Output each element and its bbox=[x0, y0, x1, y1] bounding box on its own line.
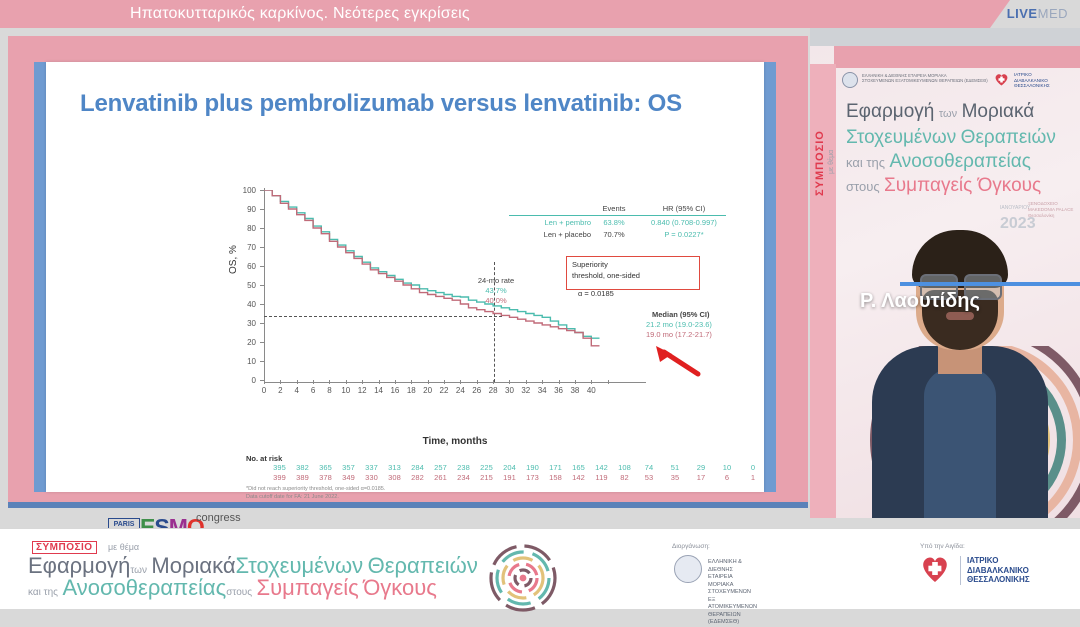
risk-value: 165 bbox=[567, 463, 590, 472]
risk-value: 330 bbox=[360, 473, 383, 482]
y-tick-label: 20 bbox=[232, 338, 256, 347]
speaker-figure bbox=[872, 216, 1048, 518]
livemed-live-text: LIVE bbox=[1007, 6, 1038, 21]
backdrop-title-line2: Στοχευμένων Θεραπειών bbox=[846, 126, 1078, 150]
24-month-rate-annotation: 24-mo rate 43.7% 40.0% bbox=[454, 276, 538, 306]
rate24-pembro: 43.7% bbox=[454, 286, 538, 296]
risk-value: 171 bbox=[544, 463, 567, 472]
backdrop-t3a: και της bbox=[846, 155, 885, 170]
edemseth-line2: ΣΤΟΧΕΥΜΕΝΩΝ ΕΞΑΤΟΜΙΚΕΥΜΕΝΩΝ ΘΕΡΑΠΕΙΩΝ (Ε… bbox=[862, 78, 988, 83]
footer-heart-cross-icon bbox=[920, 555, 950, 583]
stats-divider bbox=[509, 215, 726, 216]
x-tick bbox=[444, 380, 445, 384]
backdrop-title: Εφαρμογή των Μοριακά Στοχευμένων Θεραπει… bbox=[846, 100, 1078, 198]
backdrop-title-line1: Εφαρμογή των Μοριακά bbox=[846, 100, 1078, 126]
superiority-threshold-text: Superiority threshold, one-sided bbox=[572, 259, 702, 281]
superiority-line2: threshold, one-sided bbox=[572, 270, 702, 281]
risk-value: 365 bbox=[314, 463, 337, 472]
risk-row-placebo: 3993893783493303082822612342151911731581… bbox=[268, 473, 766, 482]
risk-value: 142 bbox=[567, 473, 590, 482]
risk-value: 389 bbox=[291, 473, 314, 482]
stats-label-pembro: Len + pembro bbox=[501, 218, 591, 227]
risk-value: 190 bbox=[521, 463, 544, 472]
footer-organizer-text: ΕΛΛΗΝΙΚΗ & ΔΙΕΘΝΗΣ ΕΤΑΙΡΕΙΑ ΜΟΡΙΑΚΑ ΣΤΟΧ… bbox=[708, 559, 757, 627]
x-tick bbox=[362, 380, 363, 384]
video-top-pink-band bbox=[834, 46, 1080, 68]
y-tick-label: 80 bbox=[232, 224, 256, 233]
x-axis-line bbox=[264, 382, 646, 383]
median-header: Median (95% CI) bbox=[646, 310, 761, 320]
risk-value: 53 bbox=[636, 473, 662, 482]
slide-accent-right bbox=[764, 62, 776, 492]
rate24-placebo: 40.0% bbox=[454, 296, 538, 306]
risk-value: 399 bbox=[268, 473, 291, 482]
x-tick bbox=[608, 380, 609, 384]
stats-pvalue: P = 0.0227* bbox=[641, 230, 727, 239]
x-tick bbox=[329, 380, 330, 384]
risk-value: 17 bbox=[688, 473, 714, 482]
risk-value: 238 bbox=[452, 463, 475, 472]
risk-value: 337 bbox=[360, 463, 383, 472]
x-tick bbox=[542, 380, 543, 384]
speaker-name-overlay: Ρ. Λαουτίδης bbox=[860, 290, 980, 313]
footnote-line-2: Data cutoff date for FA: 21 June 2022. bbox=[246, 494, 385, 502]
x-tick bbox=[526, 380, 527, 384]
risk-value: 119 bbox=[590, 473, 613, 482]
risk-value: 142 bbox=[590, 463, 613, 472]
speaker-shirt bbox=[924, 368, 996, 518]
stats-col-events: Events bbox=[594, 204, 634, 213]
risk-value: 191 bbox=[498, 473, 521, 482]
risk-value: 382 bbox=[291, 463, 314, 472]
risk-value: 10 bbox=[714, 463, 740, 472]
stats-col-hr: HR (95% CI) bbox=[641, 204, 727, 213]
slide-container[interactable]: Lenvatinib plus pembrolizumab versus len… bbox=[8, 36, 808, 506]
superiority-line1: Superiority bbox=[572, 259, 702, 270]
risk-value: 378 bbox=[314, 473, 337, 482]
stats-label-placebo: Len + placebo bbox=[501, 230, 591, 239]
x-tick bbox=[280, 380, 281, 384]
x-tick bbox=[591, 380, 592, 384]
risk-value: 51 bbox=[662, 463, 688, 472]
risk-value: 6 bbox=[714, 473, 740, 482]
video-blue-accent-line bbox=[900, 282, 1080, 286]
speaker-mouth bbox=[946, 312, 974, 320]
stats-hr-value: 0.840 (0.708-0.997) bbox=[641, 218, 727, 227]
livemed-logo: LIVEMED bbox=[1007, 6, 1068, 21]
backdrop-t1a: Εφαρμογή bbox=[846, 101, 934, 122]
x-tick bbox=[346, 380, 347, 384]
x-tick bbox=[411, 380, 412, 384]
risk-value: 234 bbox=[452, 473, 475, 482]
stats-row-placebo: Len + placebo 70.7% P = 0.0227* bbox=[501, 230, 726, 242]
footer-l3d: Συμπαγείς bbox=[257, 575, 359, 600]
footer-title-line3: και της Ανοσοθεραπείαςστους Συμπαγείς Όγ… bbox=[28, 575, 437, 601]
footer-aegis-line3: ΘΕΣΣΑΛΟΝΙΚΗΣ bbox=[967, 575, 1030, 585]
footer-bar: ΣΥΜΠΟΣΙΟ με θέμα Εφαρμογήτων ΜοριακάΣτοχ… bbox=[0, 528, 1080, 609]
slide-bottom-strip bbox=[8, 502, 808, 508]
stats-events-pembro: 63.8% bbox=[594, 218, 634, 227]
superiority-alpha: α = 0.0185 bbox=[578, 289, 614, 298]
risk-value: 158 bbox=[544, 473, 567, 482]
median-pembro: 21.2 mo (19.0-23.6) bbox=[646, 320, 761, 330]
slide-canvas: Lenvatinib plus pembrolizumab versus len… bbox=[46, 62, 764, 492]
x-tick bbox=[477, 380, 478, 384]
risk-value: 204 bbox=[498, 463, 521, 472]
risk-value: 284 bbox=[406, 463, 429, 472]
stats-events-placebo: 70.7% bbox=[594, 230, 634, 239]
x-tick bbox=[379, 380, 380, 384]
risk-value: 108 bbox=[613, 463, 636, 472]
footer-l3a: και της bbox=[28, 587, 58, 598]
footer-aegis-line1: ΙΑΤΡΙΚΟ bbox=[967, 556, 1030, 566]
risk-value: 282 bbox=[406, 473, 429, 482]
footer-maze-icon bbox=[488, 543, 558, 613]
stats-table: Events HR (95% CI) Len + pembro 63.8% 0.… bbox=[501, 204, 726, 242]
x-tick bbox=[575, 380, 576, 384]
risk-value: 357 bbox=[337, 463, 360, 472]
stats-header-row: Events HR (95% CI) bbox=[501, 204, 726, 215]
median-placebo: 19.0 mo (17.2-21.7) bbox=[646, 330, 761, 340]
footer-l3e: Όγκους bbox=[363, 575, 437, 600]
os-kaplan-meier-chart: 0102030405060708090100 02468101214161820… bbox=[46, 62, 764, 492]
footer-organizer-label: Διοργάνωση: bbox=[672, 543, 710, 550]
footer-society-seal-icon bbox=[674, 555, 702, 583]
y-tick-label: 40 bbox=[232, 300, 256, 309]
x-tick-label: 40 bbox=[581, 386, 601, 395]
top-header-bar: Ηπατοκυτταρικός καρκίνος. Νεότερες εγκρί… bbox=[0, 0, 1080, 28]
edemseth-logo-text: ΕΛΛΗΝΙΚΗ & ΔΙΕΘΝΗΣ ΕΤΑΙΡΕΙΑ ΜΟΡΙΑΚΑ ΣΤΟΧ… bbox=[862, 73, 988, 84]
risk-value: 308 bbox=[383, 473, 406, 482]
risk-value: 215 bbox=[475, 473, 498, 482]
x-tick bbox=[297, 380, 298, 384]
x-tick bbox=[509, 380, 510, 384]
y-axis-title: OS, % bbox=[228, 245, 239, 274]
backdrop-t1c: Μοριακά bbox=[962, 101, 1035, 122]
backdrop-t2a: Στοχευμένων bbox=[846, 127, 956, 148]
x-axis-title: Time, months bbox=[264, 436, 646, 447]
footnote-line-1: *Did not reach superiority threshold, on… bbox=[246, 486, 385, 494]
backdrop-t4a: στους bbox=[846, 179, 880, 194]
heart-cross-icon bbox=[994, 73, 1009, 86]
risk-value: 1 bbox=[740, 473, 766, 482]
y-tick-label: 50 bbox=[232, 281, 256, 290]
risk-value: 395 bbox=[268, 463, 291, 472]
risk-value: 29 bbox=[688, 463, 714, 472]
rate24-header: 24-mo rate bbox=[454, 276, 538, 286]
backdrop-top-logos: ΕΛΛΗΝΙΚΗ & ΔΙΕΘΝΗΣ ΕΤΑΙΡΕΙΑ ΜΟΡΙΑΚΑ ΣΤΟΧ… bbox=[842, 72, 1080, 94]
slide-footnotes: *Did not reach superiority threshold, on… bbox=[246, 486, 385, 501]
risk-value: 313 bbox=[383, 463, 406, 472]
risk-value: 0 bbox=[740, 463, 766, 472]
risk-table-title: No. at risk bbox=[246, 454, 282, 463]
interbalkan-logo-text: ΙΑΤΡΙΚΟ ΔΙΑΒΑΛΚΑΝΙΚΟ ΘΕΣΣΑΛΟΝΙΚΗΣ bbox=[1014, 72, 1050, 89]
footer-aegis-line2: ΔΙΑΒΑΛΚΑΝΙΚΟ bbox=[967, 566, 1030, 576]
risk-row-pembro: 3953823653573373132842572382252041901711… bbox=[268, 463, 766, 472]
backdrop-t2b: Θεραπειών bbox=[961, 127, 1056, 148]
risk-value: 349 bbox=[337, 473, 360, 482]
y-tick-label: 100 bbox=[232, 186, 256, 195]
backdrop-symposium-vertical-sub: με θέμα bbox=[828, 150, 835, 174]
risk-value: 173 bbox=[521, 473, 544, 482]
session-title: Ηπατοκυτταρικός καρκίνος. Νεότερες εγκρί… bbox=[130, 5, 470, 23]
footer-event-logo: ΣΥΜΠΟΣΙΟ με θέμα Εφαρμογήτων ΜοριακάΣτοχ… bbox=[28, 539, 498, 597]
risk-value: 257 bbox=[429, 463, 452, 472]
footer-l3c: στους bbox=[226, 587, 252, 598]
risk-value: 74 bbox=[636, 463, 662, 472]
x-tick bbox=[264, 380, 265, 384]
society-seal-icon bbox=[842, 72, 858, 88]
y-tick-label: 30 bbox=[232, 319, 256, 328]
speaker-video-panel[interactable]: ΕΛΛΗΝΙΚΗ & ΔΙΕΘΝΗΣ ΕΤΑΙΡΕΙΑ ΜΟΡΙΑΚΑ ΣΤΟΧ… bbox=[810, 28, 1080, 518]
backdrop-t1b: των bbox=[939, 108, 957, 120]
x-tick bbox=[428, 380, 429, 384]
backdrop-title-line3: και της Ανοσοθεραπείας bbox=[846, 150, 1078, 174]
x-tick bbox=[559, 380, 560, 384]
median-annotation: Median (95% CI) 21.2 mo (19.0-23.6) 19.0… bbox=[646, 310, 761, 340]
x-tick bbox=[460, 380, 461, 384]
backdrop-t4b: Συμπαγείς Όγκους bbox=[884, 175, 1041, 196]
footer-me-thema: με θέμα bbox=[108, 542, 139, 552]
footer-organizer-block: Διοργάνωση: ΕΛΛΗΝΙΚΗ & ΔΙΕΘΝΗΣ ΕΤΑΙΡΕΙΑ … bbox=[672, 543, 710, 550]
y-tick-label: 0 bbox=[232, 376, 256, 385]
y-tick-label: 90 bbox=[232, 205, 256, 214]
stats-row-pembro: Len + pembro 63.8% 0.840 (0.708-0.997) bbox=[501, 218, 726, 230]
risk-value: 225 bbox=[475, 463, 498, 472]
interbalkan-line3: ΘΕΣΣΑΛΟΝΙΚΗΣ bbox=[1014, 83, 1050, 89]
risk-value: 35 bbox=[662, 473, 688, 482]
footer-organizer-line1: ΕΛΛΗΝΙΚΗ & ΔΙΕΘΝΗΣ ΕΤΑΙΡΕΙΑ ΜΟΡΙΑΚΑ bbox=[708, 559, 757, 589]
footer-aegis-label: Υπό την Αιγίδα: bbox=[920, 543, 965, 550]
livemed-med-text: MED bbox=[1038, 6, 1068, 21]
footer-l3b: Ανοσοθεραπείας bbox=[62, 575, 226, 600]
risk-value: 261 bbox=[429, 473, 452, 482]
footer-aegis-text: ΙΑΤΡΙΚΟ ΔΙΑΒΑΛΚΑΝΙΚΟ ΘΕΣΣΑΛΟΝΙΚΗΣ bbox=[960, 556, 1030, 585]
x-tick bbox=[395, 380, 396, 384]
x-tick bbox=[313, 380, 314, 384]
backdrop-t3b: Ανοσοθεραπείας bbox=[889, 151, 1030, 172]
risk-value: 82 bbox=[613, 473, 636, 482]
red-pointer-arrow-icon bbox=[646, 344, 706, 380]
esmo-congress-label: congress bbox=[196, 512, 241, 524]
backdrop-title-line4: στους Συμπαγείς Όγκους bbox=[846, 174, 1078, 198]
y-tick-label: 10 bbox=[232, 357, 256, 366]
backdrop-symposium-vertical: ΣΥΜΠΟΣΙΟ bbox=[814, 130, 826, 196]
slide-accent-left bbox=[34, 62, 46, 492]
footer-aegis-block: Υπό την Αιγίδα: ΙΑΤΡΙΚΟ ΔΙΑΒΑΛΚΑΝΙΚΟ ΘΕΣ… bbox=[920, 543, 965, 550]
